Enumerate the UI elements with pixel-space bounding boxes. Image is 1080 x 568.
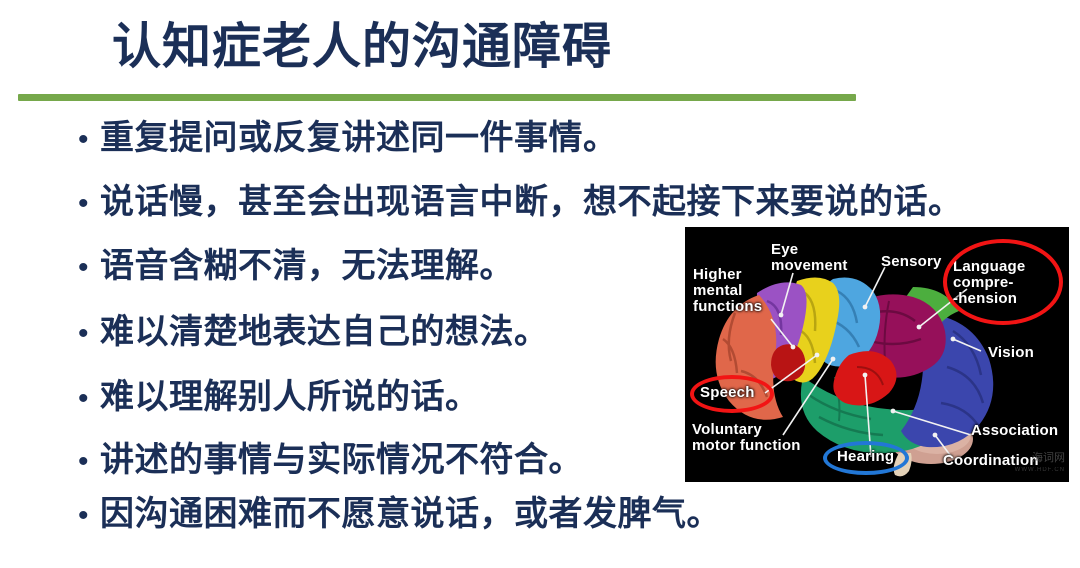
brain-label-vision: Vision (988, 345, 1034, 361)
list-item-text: 讲述的事情与实际情况不符合。 (100, 440, 583, 480)
brain-label-sensory: Sensory (881, 254, 942, 270)
brain-anatomy-figure: Higher mental functions Eye movement Sen… (685, 227, 1069, 482)
watermark-text: 海词网 (1032, 452, 1065, 464)
title-block: 认知症老人的沟通障碍 (0, 16, 1080, 86)
list-item: • 难以理解别人所说的话。 (78, 377, 480, 417)
slide-canvas: 认知症老人的沟通障碍 • 重复提问或反复讲述同一件事情。 • 说话慢，甚至会出现… (0, 0, 1080, 568)
language-comprehension-highlight-icon (943, 239, 1063, 325)
bullet-marker-icon: • (78, 384, 100, 414)
list-item-text: 难以理解别人所说的话。 (100, 377, 480, 417)
bullet-marker-icon: • (78, 447, 100, 477)
brain-label-voluntary-motor-function: Voluntary motor function (692, 422, 801, 454)
bullet-marker-icon: • (78, 189, 100, 219)
list-item: • 难以清楚地表达自己的想法。 (78, 312, 549, 352)
list-item: • 说话慢，甚至会出现语言中断，想不起接下来要说的话。 (78, 182, 963, 222)
list-item-text: 难以清楚地表达自己的想法。 (100, 312, 549, 352)
list-item-text: 重复提问或反复讲述同一件事情。 (100, 118, 618, 158)
page-title: 认知症老人的沟通障碍 (112, 16, 612, 78)
list-item-text: 语音含糊不清，无法理解。 (100, 246, 514, 286)
watermark: 海词网 WWW.HDF.CN (1015, 452, 1065, 476)
brain-label-association: Association (971, 423, 1058, 439)
speech-highlight-icon (690, 375, 774, 413)
bullet-marker-icon: • (78, 253, 100, 283)
title-divider-rule (18, 94, 856, 101)
brain-label-higher-mental-functions: Higher mental functions (693, 267, 762, 315)
list-item: • 语音含糊不清，无法理解。 (78, 246, 514, 286)
brain-label-eye-movement: Eye movement (771, 242, 848, 274)
bullet-marker-icon: • (78, 501, 100, 531)
watermark-subtext: WWW.HDF.CN (1015, 464, 1065, 476)
list-item-text: 说话慢，甚至会出现语言中断，想不起接下来要说的话。 (100, 182, 963, 222)
bullet-marker-icon: • (78, 125, 100, 155)
list-item: • 重复提问或反复讲述同一件事情。 (78, 118, 618, 158)
hearing-highlight-icon (823, 441, 909, 475)
list-item-text: 因沟通困难而不愿意说话，或者发脾气。 (100, 494, 721, 534)
bullet-marker-icon: • (78, 319, 100, 349)
list-item: • 讲述的事情与实际情况不符合。 (78, 440, 583, 480)
list-item: • 因沟通困难而不愿意说话，或者发脾气。 (78, 494, 721, 534)
